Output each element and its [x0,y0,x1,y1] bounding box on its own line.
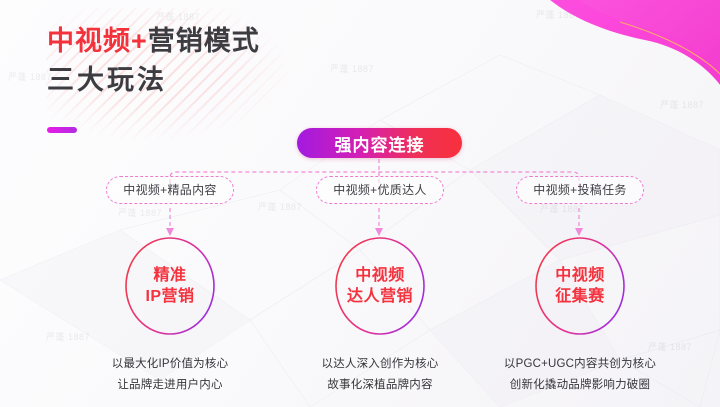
description-3: 以PGC+UGC内容共创为核心 创新化撬动品牌影响力破圈 [470,354,690,397]
description-2: 以达人深入创作为核心 故事化深植品牌内容 [270,354,490,397]
circle-line-1b: IP营销 [145,287,194,306]
desc-line-3a: 以PGC+UGC内容共创为核心 [470,354,690,375]
page-title: 中视频+营销模式 [47,26,260,57]
watermark: 严蓬 1887 [156,10,200,23]
watermark: 严蓬 1887 [330,62,374,75]
title-highlight: 中视频+ [47,26,148,56]
title-rest: 营销模式 [148,26,260,56]
circle-line-1a: 精准 [153,266,186,285]
circle-text-2: 中视频 达人营销 [330,236,430,336]
circle-line-3b: 征集赛 [555,287,605,306]
pill-label-1[interactable]: 中视频+精品内容 [106,176,233,204]
slide-canvas: 严蓬 1887 严蓬 1887 严蓬 1887 严蓬 1887 严蓬 1887 … [0,0,720,407]
circle-line-2b: 达人营销 [347,287,413,306]
desc-line-1a: 以最大化IP价值为核心 [60,354,280,375]
desc-line-1b: 让品牌走进用户内心 [60,375,280,396]
pink-blob-decoration [470,0,720,142]
pill-label-3[interactable]: 中视频+投稿任务 [516,176,643,204]
desc-line-3b: 创新化撬动品牌影响力破圈 [470,375,690,396]
watermark: 严蓬 1887 [536,8,580,21]
playbook-column-2: 中视频+优质达人 中视频 达人营销 以达人深入创作为核心 故事化深植品牌内容 [270,176,490,397]
core-concept-badge[interactable]: 强内容连接 [297,128,462,158]
circle-badge-2[interactable]: 中视频 达人营销 [330,236,430,336]
header-block: 中视频+营销模式 三大玩法 [47,26,260,96]
circle-line-2a: 中视频 [355,266,405,285]
accent-bar [47,127,77,133]
circle-badge-3[interactable]: 中视频 征集赛 [530,236,630,336]
pill-label-2[interactable]: 中视频+优质达人 [316,176,443,204]
circle-badge-1[interactable]: 精准 IP营销 [120,236,220,336]
watermark: 严蓬 1887 [660,98,704,111]
circle-text-1: 精准 IP营销 [120,236,220,336]
playbook-column-1: 中视频+精品内容 精准 IP营销 以最大化IP价值为核心 让品牌走进用户内心 [60,176,280,397]
desc-line-2b: 故事化深植品牌内容 [270,375,490,396]
playbook-column-3: 中视频+投稿任务 中视频 征集赛 以PGC+UGC内容共创为核心 创新化撬动品牌… [470,176,690,397]
watermark: 严蓬 1887 [8,70,52,83]
desc-line-2a: 以达人深入创作为核心 [270,354,490,375]
page-subtitle: 三大玩法 [47,65,260,96]
description-1: 以最大化IP价值为核心 让品牌走进用户内心 [60,354,280,397]
circle-line-3a: 中视频 [555,266,605,285]
circle-text-3: 中视频 征集赛 [530,236,630,336]
